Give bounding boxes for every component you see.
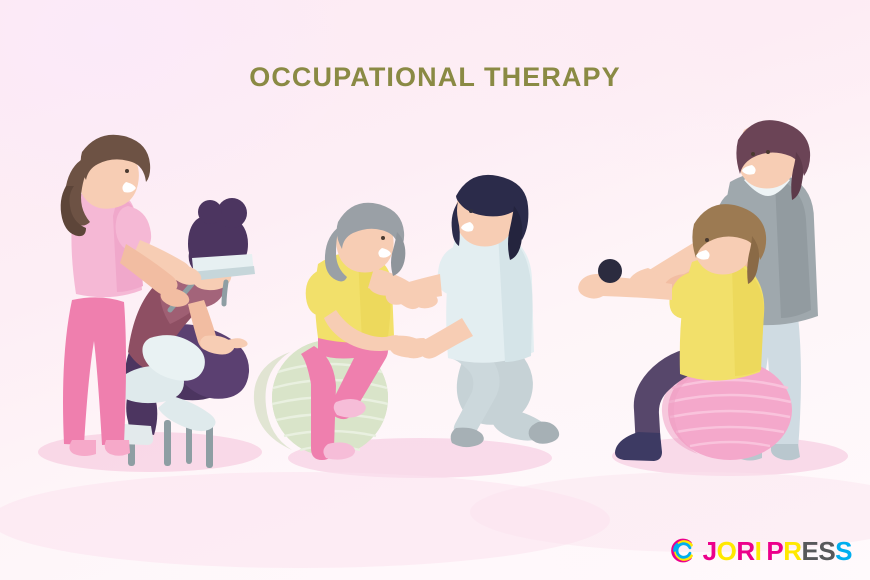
logo-letter: P [766, 538, 783, 564]
jori-press-wordmark: J O R I P R E S S [703, 538, 852, 564]
logo-letter: R [736, 538, 754, 564]
jori-press-logo[interactable]: J O R I P R E S S [669, 537, 852, 564]
logo-letter: S [818, 538, 835, 564]
logo-letter: J [703, 538, 717, 564]
dumbbell [598, 259, 622, 283]
scene-dumbbell-training [578, 120, 818, 461]
logo-letter: S [835, 538, 852, 564]
logo-letter: E [801, 538, 818, 564]
jori-press-ring-icon [669, 537, 696, 564]
logo-letter: I [755, 538, 762, 564]
scene-ball-seated-stretch [254, 175, 559, 460]
illustration-poster: OCCUPATIONAL THERAPY [0, 0, 870, 580]
occupational-therapy-illustration [0, 0, 870, 580]
logo-letter: R [783, 538, 801, 564]
logo-letter: O [717, 538, 737, 564]
scene-chair-massage [61, 135, 255, 468]
